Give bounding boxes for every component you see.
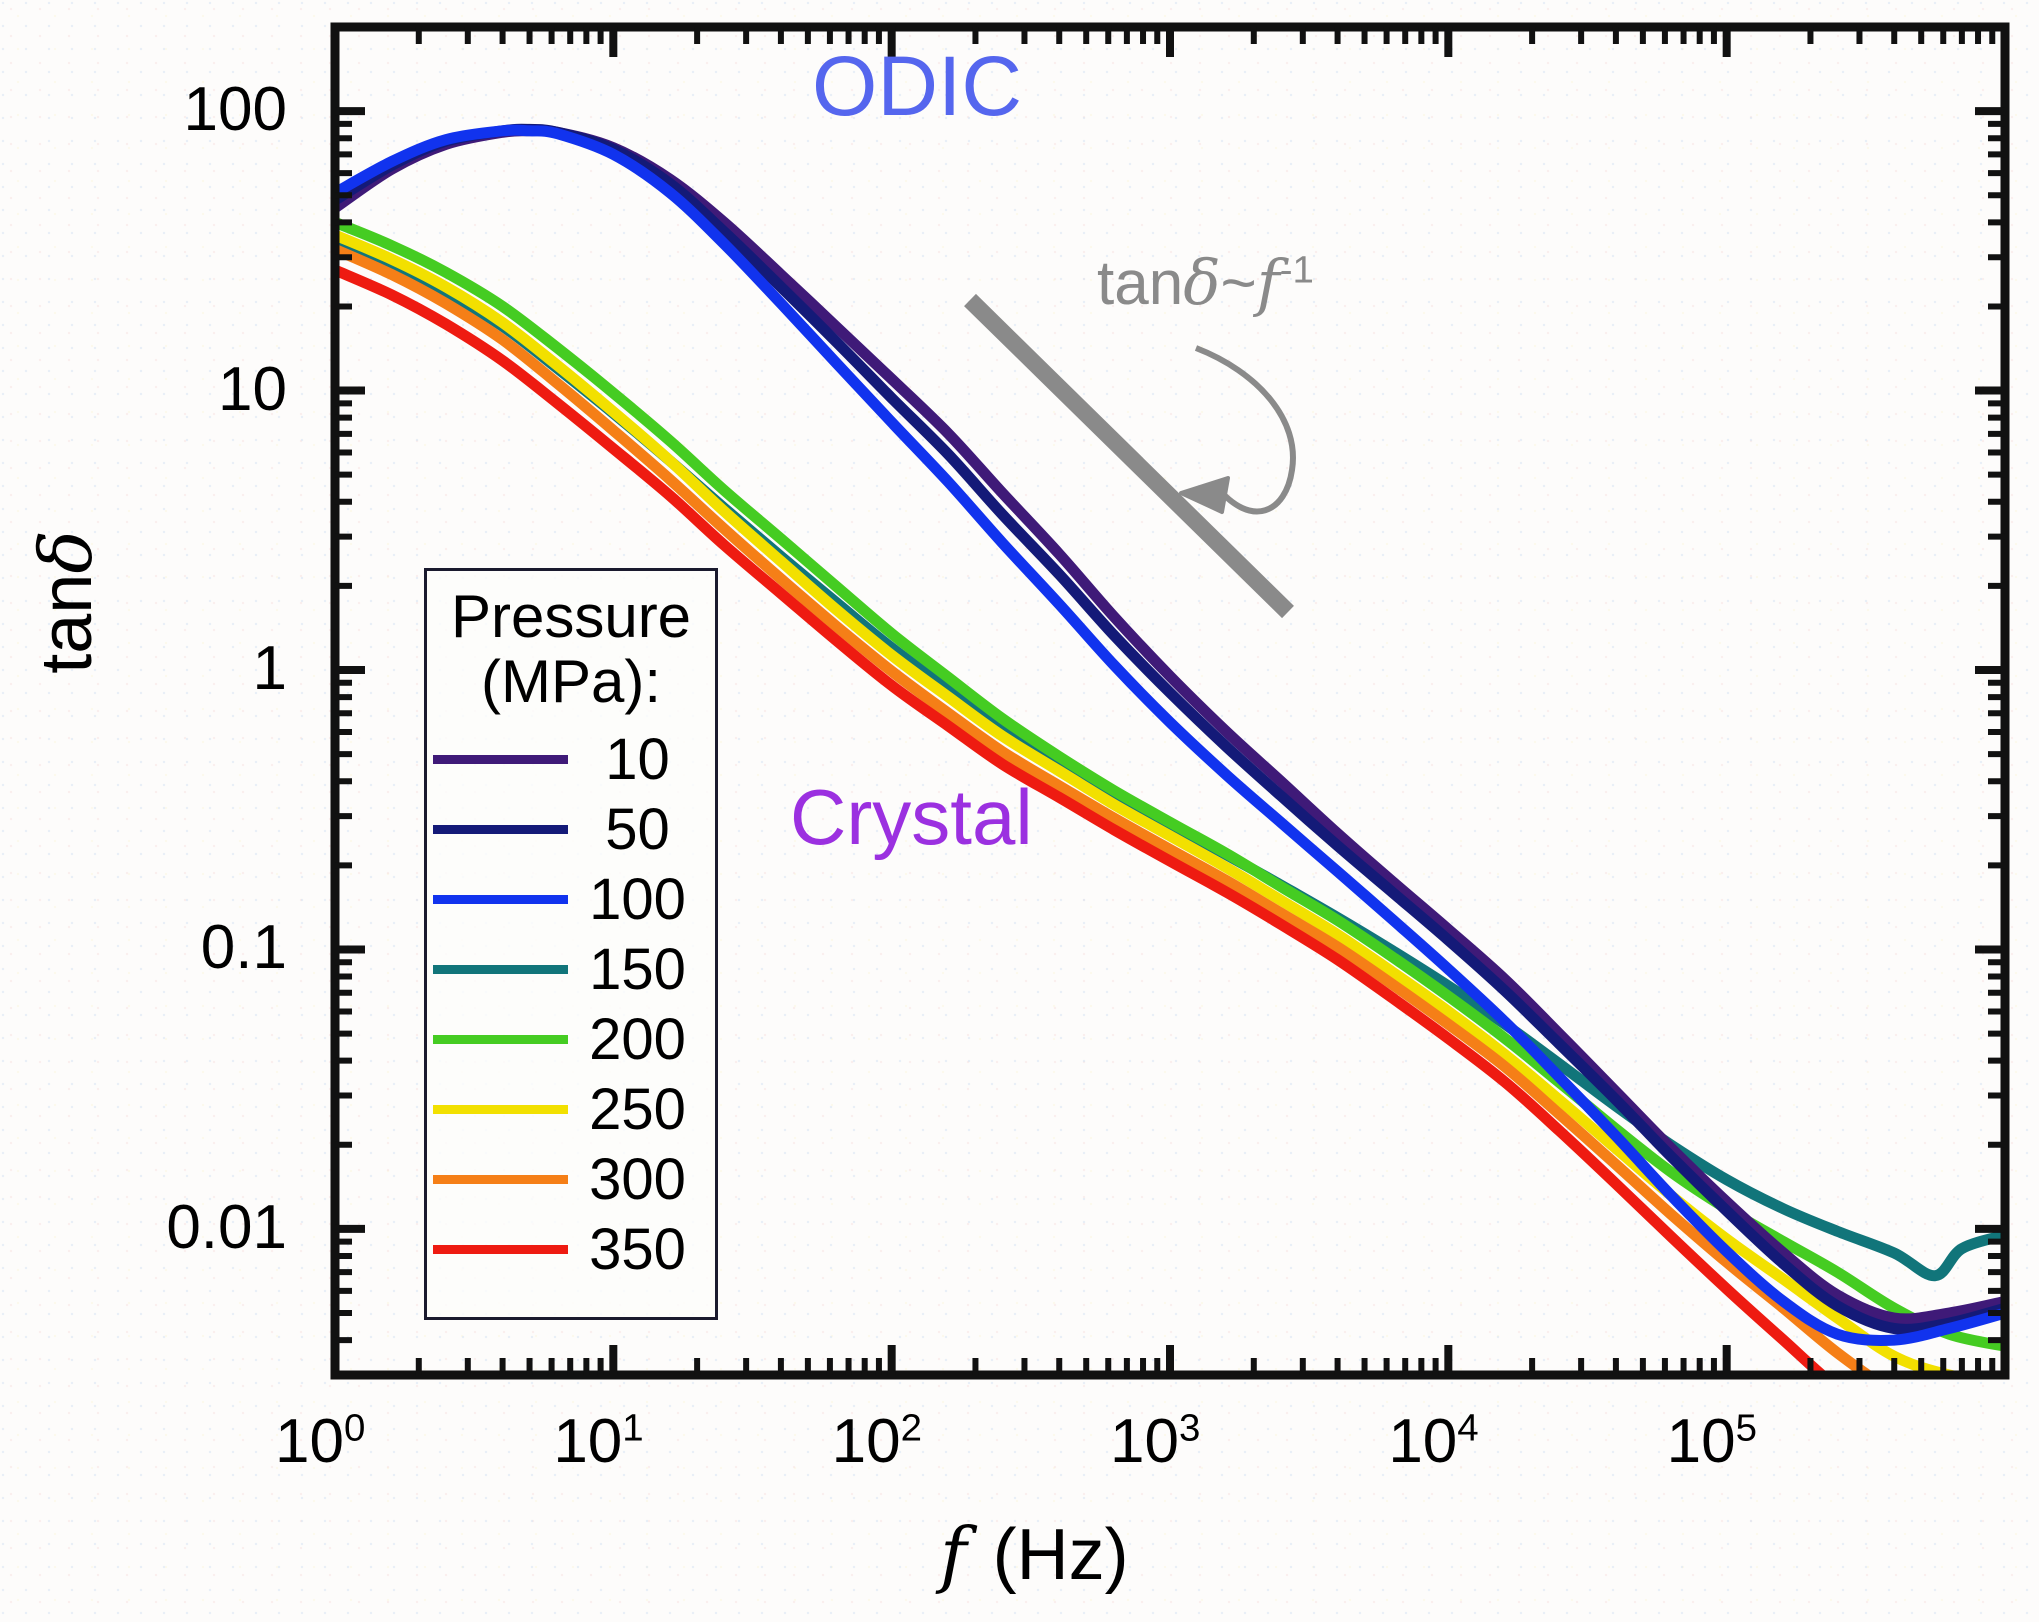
- legend-row-200[interactable]: 200: [427, 1005, 715, 1075]
- x-tick-label-3: 103: [1110, 1411, 1200, 1473]
- x-axis-label: f(Hz): [940, 1512, 1129, 1596]
- figure-root: tanδ f(Hz) ODIC Crystal tanδ~f-1 1001011…: [0, 0, 2039, 1622]
- odic-region-label: ODIC: [812, 44, 1022, 128]
- y-tick-label-2: 1: [0, 638, 287, 700]
- legend-swatch-350: [433, 1245, 568, 1254]
- x-tick-label-0: 100: [275, 1411, 365, 1473]
- legend-swatch-10: [433, 755, 568, 764]
- legend-row-100[interactable]: 100: [427, 865, 715, 935]
- crystal-region-label: Crystal: [790, 778, 1033, 856]
- legend-row-150[interactable]: 150: [427, 935, 715, 1005]
- x-tick-label-5: 105: [1667, 1411, 1757, 1473]
- slope-exponent: -1: [1280, 248, 1314, 291]
- legend-swatch-100: [433, 895, 568, 904]
- slope-tilde: ~: [1221, 249, 1257, 318]
- legend-row-350[interactable]: 350: [427, 1215, 715, 1285]
- legend-label-200: 200: [568, 1011, 715, 1069]
- legend-title-line1: Pressure: [427, 585, 715, 650]
- legend-title-line2: (MPa):: [427, 650, 715, 715]
- legend-swatch-200: [433, 1035, 568, 1044]
- slope-delta: δ: [1183, 246, 1220, 319]
- x-tick-label-4: 104: [1388, 1411, 1478, 1473]
- legend-row-250[interactable]: 250: [427, 1075, 715, 1145]
- legend-row-10[interactable]: 10: [427, 725, 715, 795]
- legend-row-50[interactable]: 50: [427, 795, 715, 865]
- legend-swatch-150: [433, 965, 568, 974]
- legend-swatch-250: [433, 1105, 568, 1114]
- legend-row-300[interactable]: 300: [427, 1145, 715, 1215]
- legend-box: Pressure (MPa): 1050100150200250300350: [424, 568, 718, 1320]
- legend-swatch-50: [433, 825, 568, 834]
- slope-f: f: [1257, 246, 1280, 319]
- legend-label-10: 10: [568, 731, 715, 789]
- x-tick-label-2: 102: [832, 1411, 922, 1473]
- legend-label-100: 100: [568, 871, 715, 929]
- legend-label-300: 300: [568, 1151, 715, 1209]
- slope-law-annotation: tanδ~f-1: [1097, 252, 1314, 315]
- y-axis-label-symbol: δ: [24, 530, 108, 573]
- legend-swatch-300: [433, 1175, 568, 1184]
- legend-label-50: 50: [568, 801, 715, 859]
- y-tick-label-0: 100: [0, 79, 287, 141]
- slope-prefix: tan: [1097, 249, 1183, 318]
- x-axis-label-unit: (Hz): [993, 1515, 1129, 1595]
- legend-label-250: 250: [568, 1081, 715, 1139]
- y-tick-label-3: 0.1: [0, 917, 287, 979]
- x-tick-label-1: 101: [553, 1411, 643, 1473]
- y-tick-label-4: 0.01: [0, 1197, 287, 1259]
- x-axis-label-symbol: f: [940, 1512, 993, 1596]
- y-tick-label-1: 10: [0, 359, 287, 421]
- legend-entries: 1050100150200250300350: [427, 725, 715, 1285]
- legend-label-350: 350: [568, 1221, 715, 1279]
- legend-label-150: 150: [568, 941, 715, 999]
- legend-title: Pressure (MPa):: [427, 585, 715, 715]
